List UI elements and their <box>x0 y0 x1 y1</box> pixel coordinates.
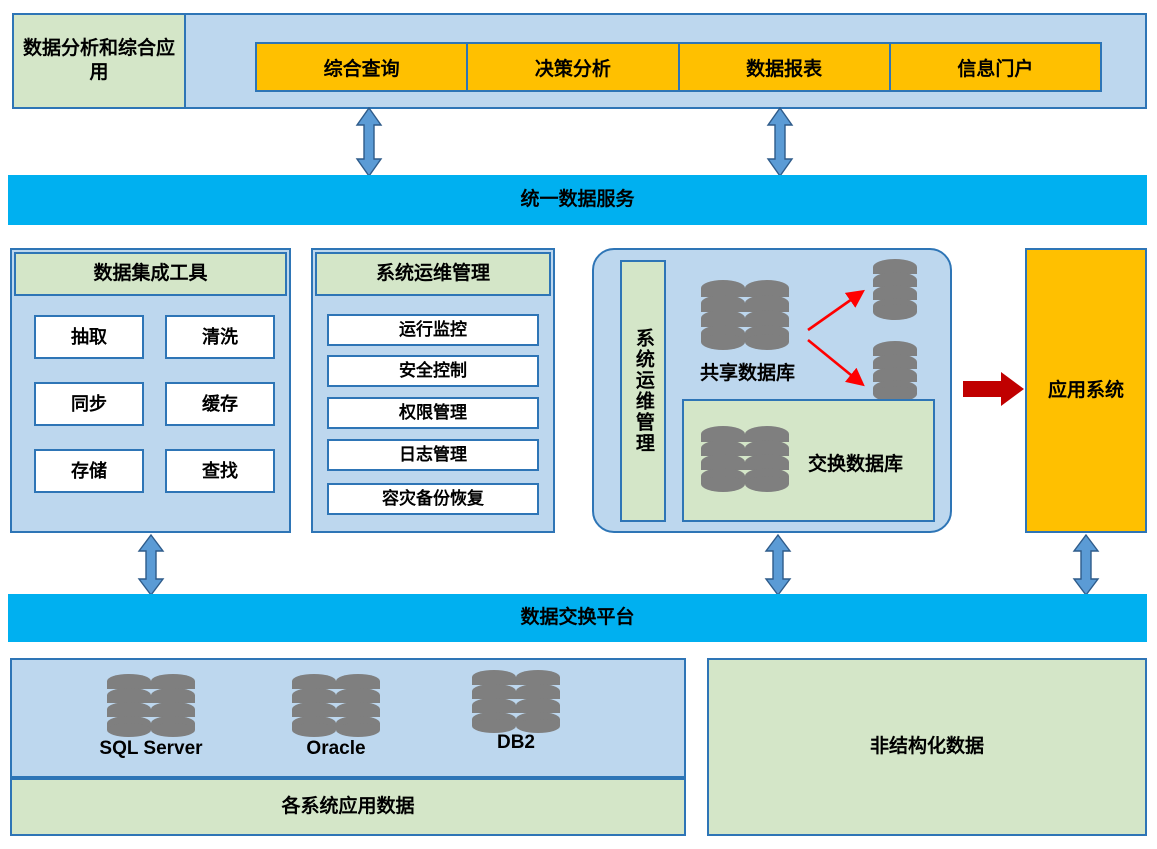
arrow-appsys-to-exchange <box>1072 534 1100 596</box>
ops-permission-management[interactable]: 权限管理 <box>327 397 539 429</box>
unstructured-data-box: 非结构化数据 <box>707 658 1147 836</box>
database-icon <box>700 424 790 498</box>
arrow-dbpanel-to-appsys <box>963 370 1025 408</box>
ops-log-management[interactable]: 日志管理 <box>327 439 539 471</box>
arrow-apps-to-service-right <box>766 107 794 177</box>
application-tabs: 综合查询 决策分析 数据报表 信息门户 <box>255 42 1102 92</box>
data-exchange-platform-bar: 数据交换平台 <box>8 594 1147 642</box>
database-icon <box>291 672 381 742</box>
source-db-label-db2: DB2 <box>451 732 581 754</box>
source-db-label-sqlserver: SQL Server <box>76 738 226 760</box>
analysis-application-label: 数据分析和综合应用 <box>12 13 186 109</box>
arrow-tools-to-exchange <box>137 534 165 596</box>
tool-storage[interactable]: 存储 <box>34 449 144 493</box>
application-system-box: 应用系统 <box>1025 248 1147 533</box>
tool-extract[interactable]: 抽取 <box>34 315 144 359</box>
ops-runtime-monitoring[interactable]: 运行监控 <box>327 314 539 346</box>
tool-clean[interactable]: 清洗 <box>165 315 275 359</box>
shared-database-label: 共享数据库 <box>700 358 795 385</box>
arrow-shared-to-replica-top <box>790 280 880 400</box>
ops-management-vertical-label: 系统运维管理 <box>620 260 666 522</box>
data-integration-tools-header: 数据集成工具 <box>14 252 287 296</box>
ops-management-header: 系统运维管理 <box>315 252 551 296</box>
source-db-label-oracle: Oracle <box>266 738 406 760</box>
tab-decision-analysis[interactable]: 决策分析 <box>468 44 679 90</box>
arrow-dbpanel-to-exchange <box>764 534 792 596</box>
tool-search[interactable]: 查找 <box>165 449 275 493</box>
exchange-database-label: 交换数据库 <box>808 449 903 476</box>
database-icon <box>700 278 790 356</box>
architecture-diagram: 数据分析和综合应用 综合查询 决策分析 数据报表 信息门户 统一数据服务 数据集… <box>0 0 1157 849</box>
source-data-footer: 各系统应用数据 <box>10 778 686 836</box>
arrow-apps-to-service-left <box>355 107 383 177</box>
tab-data-report[interactable]: 数据报表 <box>680 44 891 90</box>
tool-cache[interactable]: 缓存 <box>165 382 275 426</box>
ops-disaster-recovery[interactable]: 容灾备份恢复 <box>327 483 539 515</box>
ops-security-control[interactable]: 安全控制 <box>327 355 539 387</box>
tab-information-portal[interactable]: 信息门户 <box>891 44 1100 90</box>
tab-comprehensive-query[interactable]: 综合查询 <box>257 44 468 90</box>
database-icon <box>471 668 561 738</box>
unified-data-service-bar: 统一数据服务 <box>8 175 1147 225</box>
database-icon <box>106 672 196 742</box>
tool-sync[interactable]: 同步 <box>34 382 144 426</box>
